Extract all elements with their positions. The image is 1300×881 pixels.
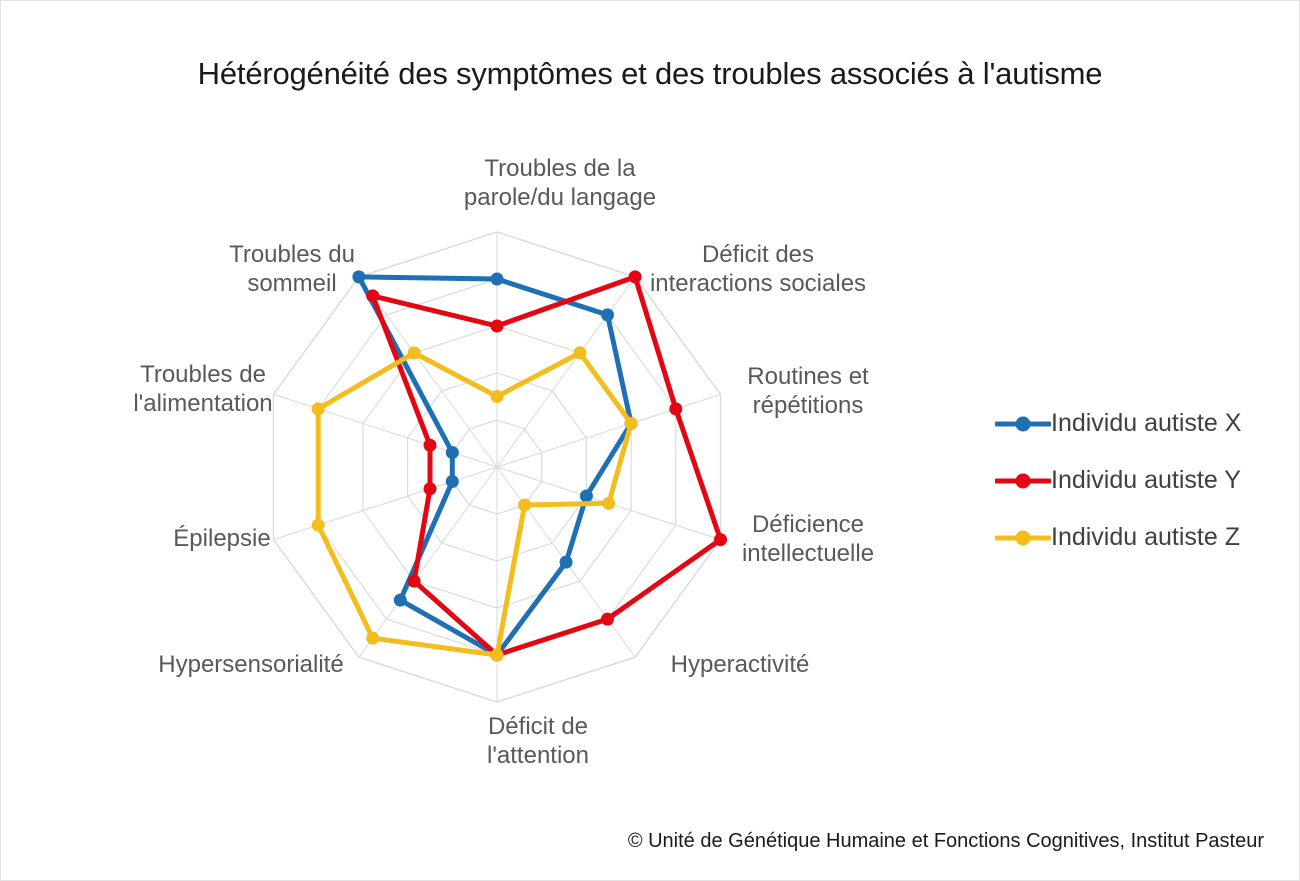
legend-item-y[interactable]: Individu autiste Y — [995, 452, 1295, 509]
legend-item-x[interactable]: Individu autiste X — [995, 395, 1295, 452]
axis-label-4: Hyperactivité — [640, 650, 840, 679]
data-point[interactable] — [669, 402, 682, 415]
chart-page: Hétérogénéité des symptômes et des troub… — [0, 0, 1300, 881]
data-point[interactable] — [602, 497, 615, 510]
data-point[interactable] — [408, 575, 421, 588]
axis-label-9: Troubles du sommeil — [192, 240, 392, 299]
axis-label-3: Déficience intellectuelle — [708, 510, 908, 569]
axis-label-1: Déficit des interactions sociales — [628, 240, 888, 299]
data-point[interactable] — [408, 346, 421, 359]
legend-dot-z — [1016, 530, 1031, 545]
legend-swatch-z — [995, 528, 1051, 548]
legend-dot-x — [1016, 416, 1031, 431]
radar-gridlines — [274, 232, 721, 702]
legend-label-y: Individu autiste Y — [1051, 466, 1241, 495]
radar-series-z — [312, 346, 638, 661]
data-point[interactable] — [491, 320, 504, 333]
data-point[interactable] — [601, 613, 614, 626]
data-point[interactable] — [491, 649, 504, 662]
axis-label-2: Routines et répétitions — [708, 362, 908, 421]
axis-label-5: Déficit de l'attention — [438, 712, 638, 771]
data-point[interactable] — [394, 594, 407, 607]
data-point[interactable] — [573, 346, 586, 359]
data-point[interactable] — [625, 417, 638, 430]
legend-label-x: Individu autiste X — [1051, 409, 1241, 438]
data-point[interactable] — [518, 499, 531, 512]
data-point[interactable] — [446, 475, 459, 488]
data-point[interactable] — [312, 402, 325, 415]
legend-swatch-x — [995, 414, 1051, 434]
legend-swatch-y — [995, 471, 1051, 491]
data-point[interactable] — [446, 446, 459, 459]
axis-label-0: Troubles de la parole/du langage — [440, 154, 680, 213]
legend-dot-y — [1016, 473, 1031, 488]
data-point[interactable] — [491, 273, 504, 286]
radar-chart: Troubles de la parole/du langageDéficit … — [60, 120, 940, 820]
axis-label-7: Épilepsie — [132, 524, 312, 553]
data-point[interactable] — [601, 308, 614, 321]
data-point[interactable] — [312, 519, 325, 532]
data-point[interactable] — [491, 390, 504, 403]
axis-label-6: Hypersensorialité — [136, 650, 366, 679]
axis-label-8: Troubles de l'alimentation — [98, 360, 308, 419]
data-point[interactable] — [424, 439, 437, 452]
data-point[interactable] — [424, 482, 437, 495]
legend-label-z: Individu autiste Z — [1051, 523, 1240, 552]
page-title: Hétérogénéité des symptômes et des troub… — [0, 56, 1300, 92]
data-point[interactable] — [580, 490, 593, 503]
chart-legend: Individu autiste X Individu autiste Y In… — [995, 395, 1295, 566]
legend-item-z[interactable]: Individu autiste Z — [995, 509, 1295, 566]
copyright-note: © Unité de Génétique Humaine et Fonction… — [628, 830, 1264, 853]
data-point[interactable] — [366, 632, 379, 645]
data-point[interactable] — [560, 556, 573, 569]
